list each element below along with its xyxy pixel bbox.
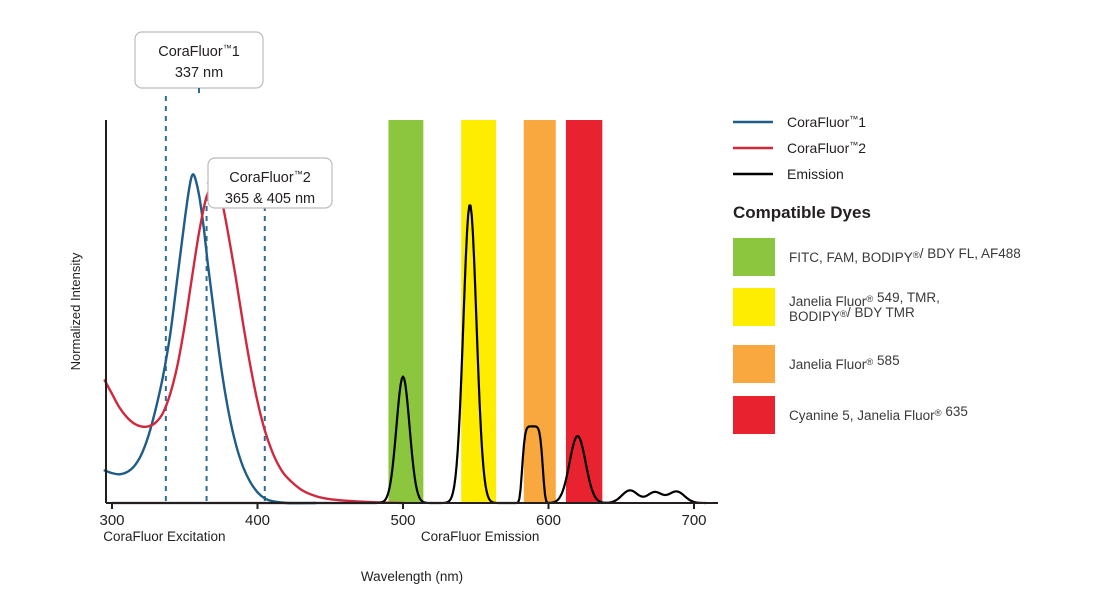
dye-swatch-3 — [733, 345, 775, 383]
dye-label-1: FITC, FAM, BODIPY®/ BDY FL, AF488 — [789, 246, 1021, 265]
dye-entry-3[interactable]: Janelia Fluor® 585 — [733, 345, 900, 383]
dye-label-3: Janelia Fluor® 585 — [789, 353, 900, 372]
dye-label-2: Janelia Fluor® 549, TMR,BODIPY®/ BDY TMR — [789, 290, 940, 324]
curve-corafluor1 — [105, 174, 316, 503]
dye-swatch-2 — [733, 288, 775, 326]
x-axis-title: Wavelength (nm) — [361, 569, 463, 584]
legend-item-1[interactable]: CoraFluor™1 — [733, 114, 866, 130]
legend-item-2[interactable]: CoraFluor™2 — [733, 140, 866, 156]
excitation-marker-lines — [166, 96, 265, 503]
x-tick-label-400: 400 — [245, 512, 270, 529]
emission-band-3 — [566, 120, 602, 503]
callout-2: CoraFluor™2365 & 405 nm — [208, 158, 332, 208]
callout-boxes: CoraFluor™1337 nmCoraFluor™2365 & 405 nm — [135, 32, 332, 208]
x-tick-label-500: 500 — [390, 512, 415, 529]
dye-entry-4[interactable]: Cyanine 5, Janelia Fluor® 635 — [733, 396, 968, 434]
x-tick-label-700: 700 — [681, 512, 706, 529]
dye-swatch-1 — [733, 238, 775, 276]
series-legend: CoraFluor™1CoraFluor™2Emission — [733, 114, 866, 182]
emission-filter-bands — [388, 120, 602, 503]
dye-swatch-4 — [733, 396, 775, 434]
y-axis-title: Normalized Intensity — [68, 252, 83, 370]
legend-item-3[interactable]: Emission — [733, 166, 844, 182]
dye-label-4: Cyanine 5, Janelia Fluor® 635 — [789, 404, 968, 423]
x-tick-label-600: 600 — [536, 512, 561, 529]
callout-subtitle-2: 365 & 405 nm — [225, 191, 315, 207]
callout-subtitle-1: 337 nm — [175, 65, 223, 81]
compatible-dyes-panel: Compatible DyesFITC, FAM, BODIPY®/ BDY F… — [733, 203, 1021, 434]
emission-band-1 — [461, 120, 496, 503]
legend-label-2: CoraFluor™2 — [787, 140, 866, 156]
legend-label-1: CoraFluor™1 — [787, 114, 866, 130]
x-tick-label-300: 300 — [99, 512, 124, 529]
dye-entry-2[interactable]: Janelia Fluor® 549, TMR,BODIPY®/ BDY TMR — [733, 288, 940, 326]
spectra-chart: 300400500600700Normalized IntensityWavel… — [0, 0, 1110, 612]
compatible-dyes-heading: Compatible Dyes — [733, 203, 871, 222]
excitation-region-label: CoraFluor Excitation — [103, 529, 225, 544]
curve-corafluor2 — [105, 185, 403, 503]
legend-label-3: Emission — [787, 166, 844, 182]
emission-region-label: CoraFluor Emission — [421, 529, 540, 544]
emission-band-2 — [524, 120, 556, 503]
callout-1: CoraFluor™1337 nm — [135, 32, 263, 88]
dye-entry-1[interactable]: FITC, FAM, BODIPY®/ BDY FL, AF488 — [733, 238, 1021, 276]
